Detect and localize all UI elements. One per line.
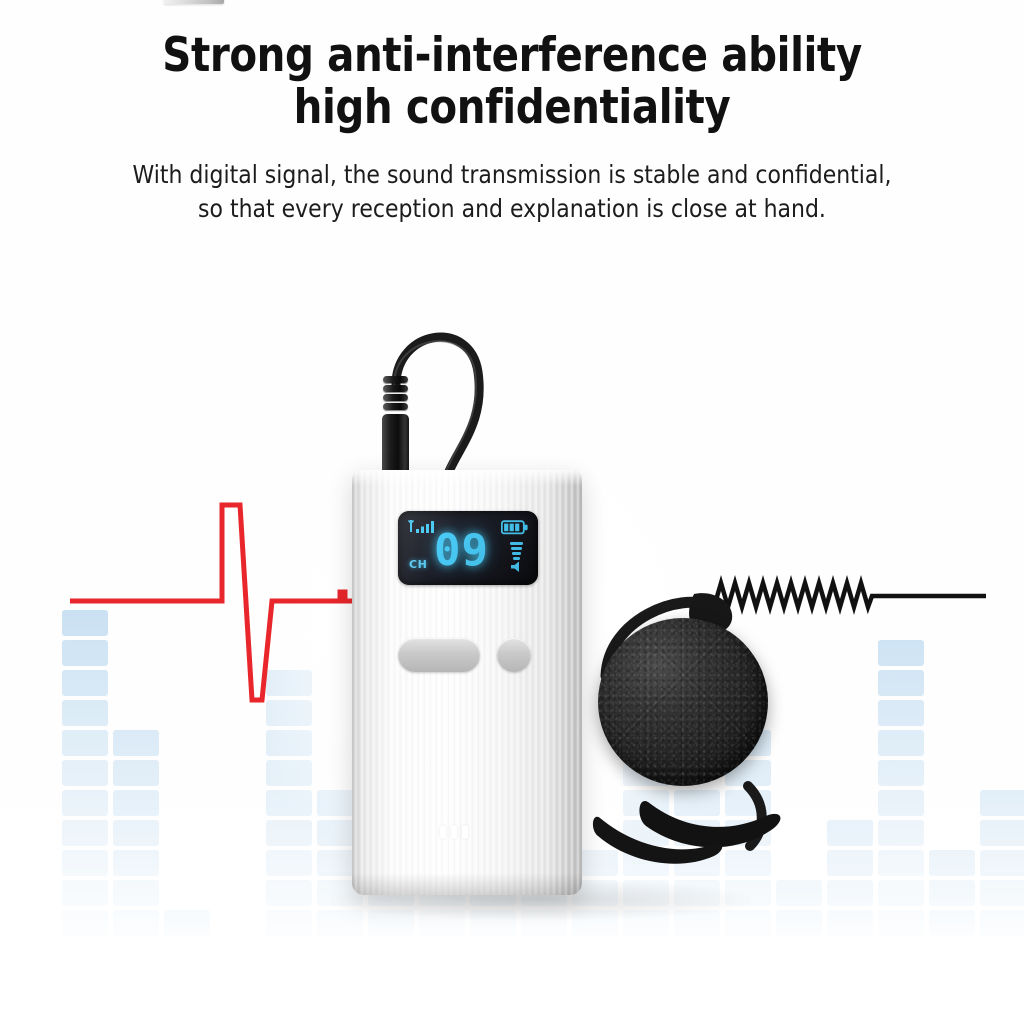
wireless-transmitter-device: CH 09: [352, 470, 582, 895]
round-button[interactable]: [497, 638, 531, 672]
grille-slot: [451, 825, 457, 839]
device-bottom-shadow: [352, 873, 582, 895]
connector-rib: [383, 376, 408, 383]
connector-rib: [383, 394, 408, 401]
mic-foam-texture: [598, 618, 768, 786]
battery-icon: [501, 520, 529, 535]
connector-rib: [383, 403, 408, 410]
audio-connector: [379, 370, 411, 476]
connector-rib: [383, 385, 408, 392]
channel-label: CH: [409, 558, 427, 571]
grille-slot: [440, 825, 446, 839]
mic-windscreen: [598, 618, 768, 786]
headline-line-2: high confidentiality: [72, 82, 953, 134]
speaker-volume-icon: [506, 541, 528, 575]
wide-pill-button[interactable]: [398, 638, 480, 672]
product-banner: CH 09: [0, 0, 1024, 1024]
text-block: Strong anti-interference ability high co…: [0, 0, 1024, 226]
bottom-white-band: [0, 940, 1024, 1024]
lcd-screen: CH 09: [398, 511, 538, 585]
subtitle-line-1: With digital signal, the sound transmiss…: [61, 158, 962, 192]
speaker-grille: [440, 825, 474, 839]
headline-line-1: Strong anti-interference ability: [72, 30, 953, 82]
page-title: Strong anti-interference ability high co…: [72, 0, 953, 134]
device-top-highlight: [352, 470, 582, 486]
page-subtitle: With digital signal, the sound transmiss…: [61, 134, 962, 226]
connector-barrel: [382, 414, 409, 476]
grille-slot: [462, 825, 468, 839]
subtitle-line-2: so that every reception and explanation …: [61, 192, 962, 226]
lavalier-microphone: [590, 590, 840, 890]
channel-value: 09: [434, 529, 489, 573]
